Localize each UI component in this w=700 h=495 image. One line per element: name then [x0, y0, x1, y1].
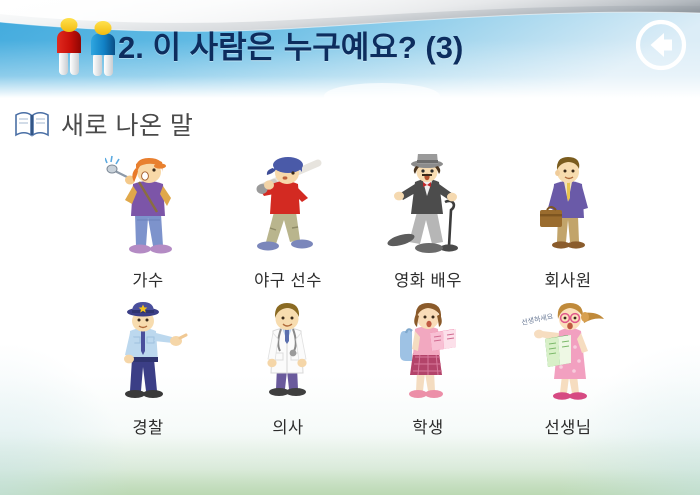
singer-illustration: [84, 152, 212, 260]
office-worker-illustration: [504, 152, 632, 260]
vocab-label: 회사원: [544, 267, 591, 291]
movie-actor-illustration: [364, 152, 492, 260]
vocab-label: 경찰: [132, 414, 163, 438]
section-title: 새로 나온 말: [61, 106, 193, 142]
vocab-card-doctor[interactable]: 의사: [218, 299, 358, 446]
two-people-figures-icon: [52, 17, 128, 79]
back-arrow-circle-icon[interactable]: [634, 18, 688, 72]
police-officer-illustration: [84, 299, 212, 407]
vocab-card-office-worker[interactable]: 회사원: [498, 152, 638, 299]
vocab-card-singer[interactable]: 가수: [78, 152, 218, 299]
open-book-icon: [14, 110, 50, 138]
vocab-card-police-officer[interactable]: 경찰: [78, 299, 218, 446]
vocab-label: 학생: [412, 414, 443, 438]
vocab-card-movie-actor[interactable]: 영화 배우: [358, 152, 498, 299]
vocab-card-teacher[interactable]: 선생하세요: [498, 299, 638, 446]
vocab-label: 의사: [272, 414, 303, 438]
teacher-speech-text: 선생하세요: [521, 311, 555, 327]
page-title: 2. 이 사람은 누구예요? (3): [118, 16, 463, 72]
baseball-player-illustration: [224, 152, 352, 260]
doctor-illustration: [224, 299, 352, 407]
teacher-illustration: 선생하세요: [504, 299, 632, 407]
vocabulary-grid: 가수: [78, 152, 638, 446]
section-heading: 새로 나온 말: [14, 106, 193, 142]
vocab-label: 가수: [132, 267, 163, 291]
vocab-label: 선생님: [544, 414, 591, 438]
vocab-card-baseball-player[interactable]: 야구 선수: [218, 152, 358, 299]
student-illustration: [364, 299, 492, 407]
slide: 2. 이 사람은 누구예요? (3) 새로 나온 말: [0, 0, 700, 495]
vocab-label: 야구 선수: [254, 267, 322, 291]
vocab-card-student[interactable]: 학생: [358, 299, 498, 446]
vocab-label: 영화 배우: [394, 267, 462, 291]
